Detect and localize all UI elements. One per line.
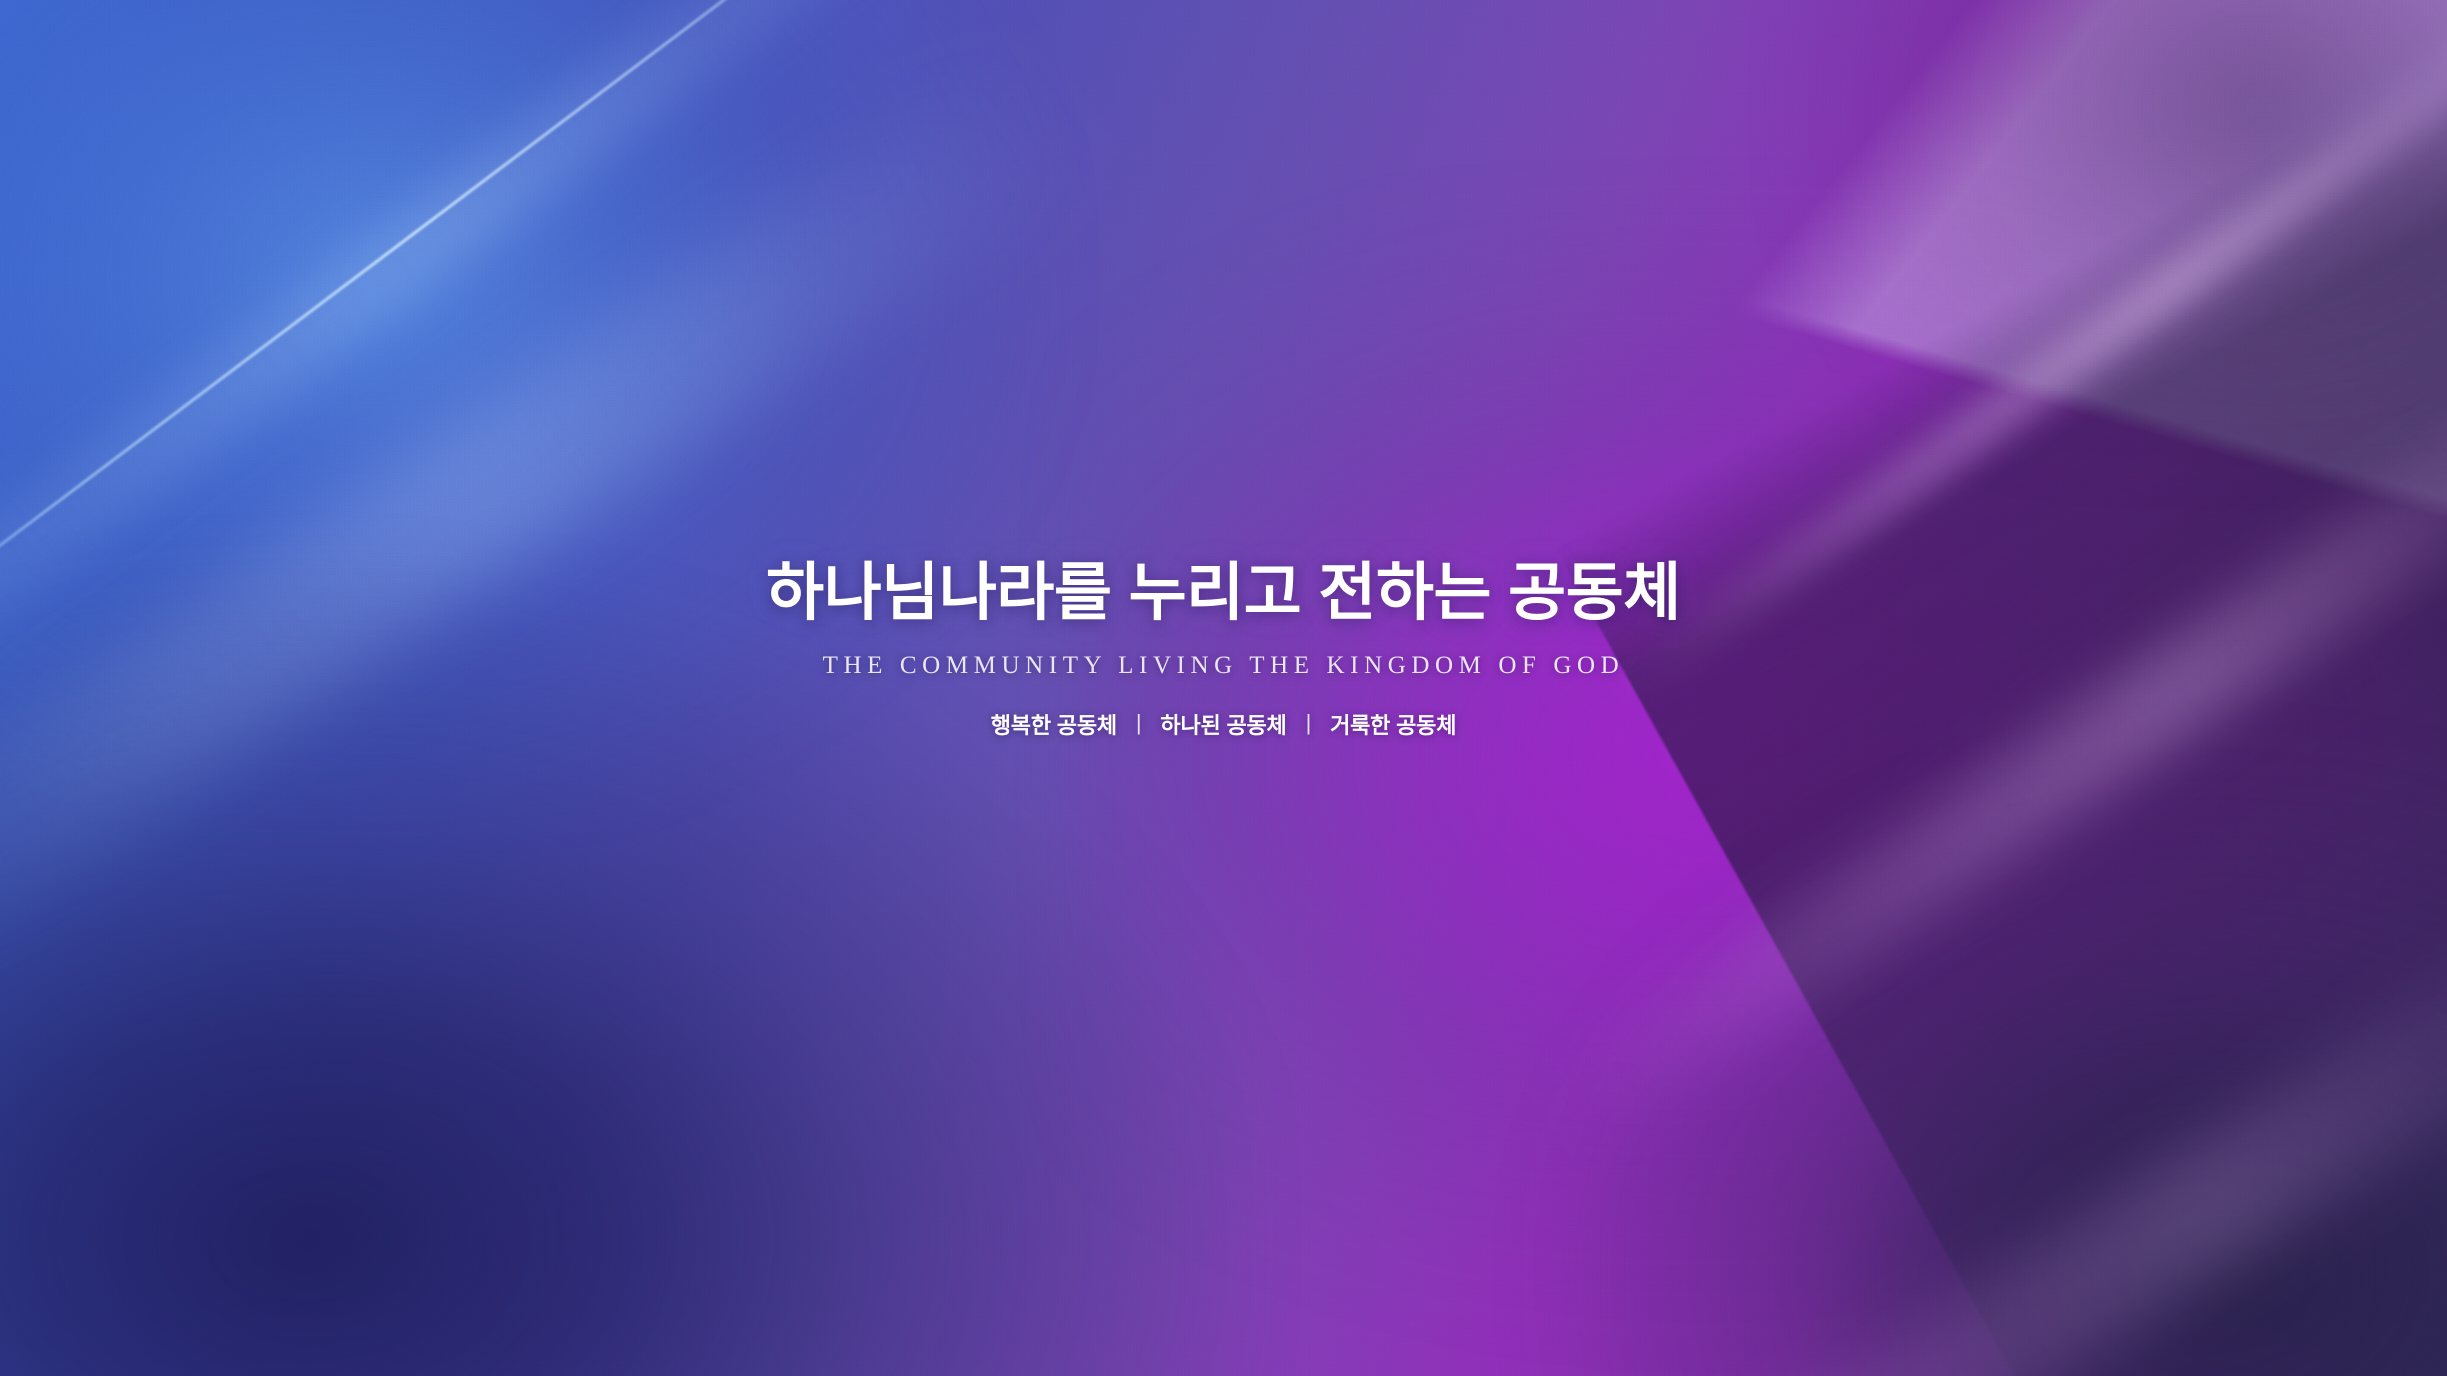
hero-tagline: 행복한 공동체 | 하나된 공동체 | 거룩한 공동체 bbox=[989, 708, 1459, 740]
tagline-item-happy: 행복한 공동체 bbox=[989, 708, 1119, 740]
hero-banner: 하나님나라를 누리고 전하는 공동체 THE COMMUNITY LIVING … bbox=[0, 0, 2447, 1376]
tagline-separator-icon: | bbox=[1119, 710, 1159, 736]
tagline-item-holy: 거룩한 공동체 bbox=[1328, 708, 1458, 740]
hero-subtitle: THE COMMUNITY LIVING THE KINGDOM OF GOD bbox=[823, 652, 1625, 680]
hero-copy-block: 하나님나라를 누리고 전하는 공동체 THE COMMUNITY LIVING … bbox=[0, 556, 2447, 740]
tagline-item-united: 하나된 공동체 bbox=[1158, 708, 1288, 740]
tagline-separator-icon: | bbox=[1289, 710, 1329, 736]
hero-title: 하나님나라를 누리고 전하는 공동체 bbox=[766, 556, 1681, 630]
